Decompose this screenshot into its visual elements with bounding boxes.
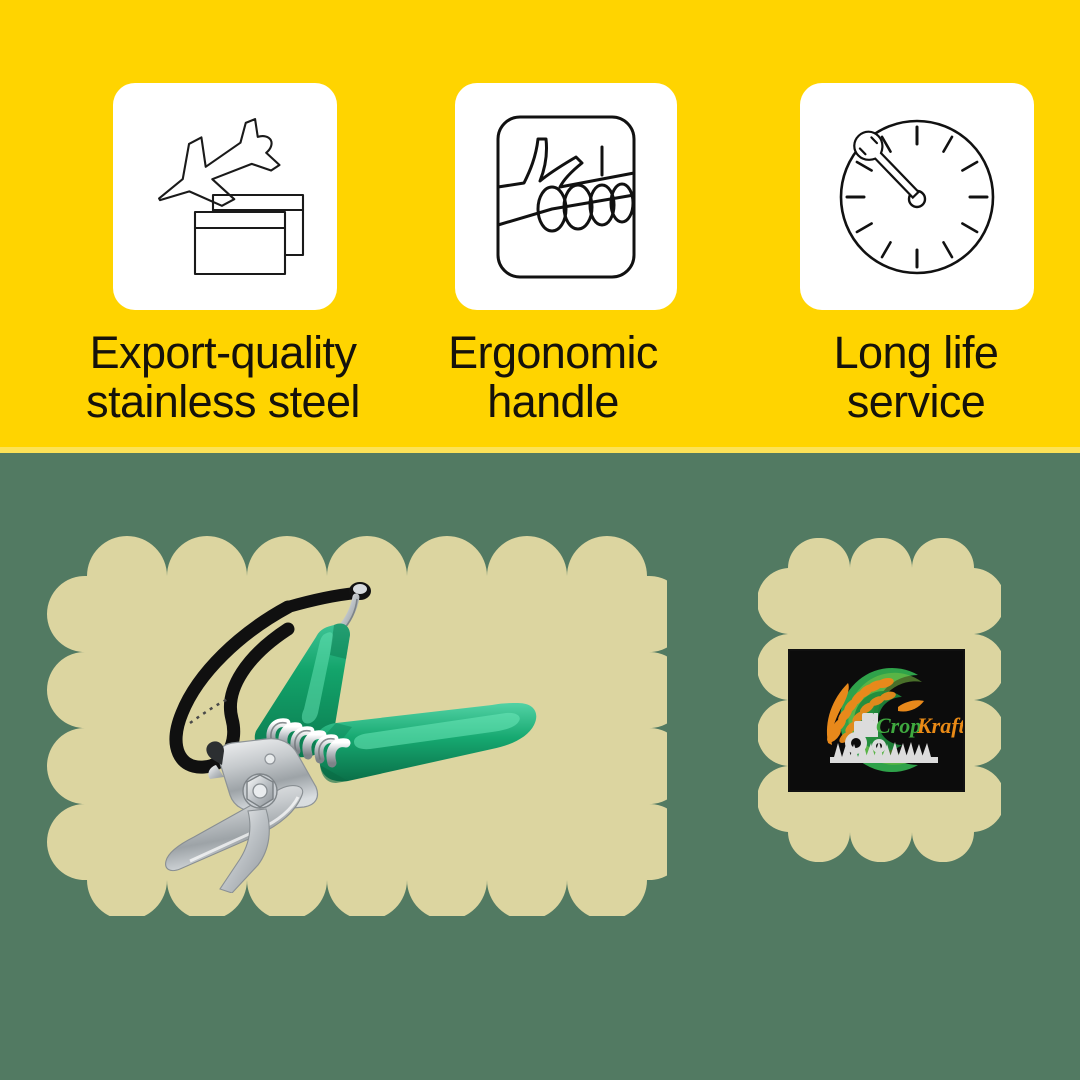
icon-card-ergonomic-handle [455,83,677,310]
clock-wrench-icon [831,111,1003,283]
icon-card-long-life-service [800,83,1034,310]
feature-export-quality[interactable]: Export-quality stainless steel [53,83,393,426]
pivot-bolt [243,774,277,808]
feature-label-ergonomic-handle: Ergonomic handle [413,329,693,426]
features-panel: Export-quality stainless steel [0,0,1080,453]
feature-grid: Export-quality stainless steel [0,0,1080,453]
product-panel: Crop Kraft [0,453,1080,1080]
logo-text-kraft: Kraft [916,713,963,738]
hand-grip-icon [490,109,642,285]
icon-card-export-quality [113,83,337,310]
feature-ergonomic-handle[interactable]: Ergonomic handle [413,83,693,426]
feature-label-long-life-service: Long life service [740,329,1080,426]
feature-label-export-quality: Export-quality stainless steel [53,329,393,426]
product-image-pruning-shears [120,563,540,893]
feature-long-life-service[interactable]: Long life service [740,83,1080,426]
cropkraft-logo: Crop Kraft [788,649,965,792]
logo-text-crop: Crop [876,713,921,738]
airplane-packages-icon [135,112,315,282]
